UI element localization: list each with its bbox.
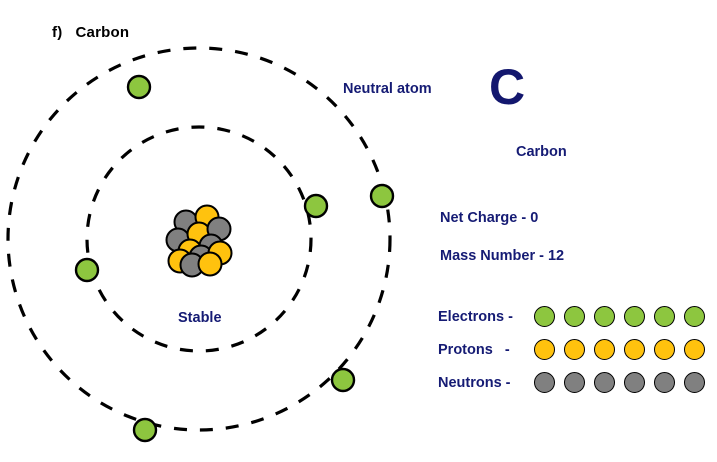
- neutron-dot: [534, 372, 555, 393]
- electron-dot: [564, 306, 585, 327]
- neutron-dot: [624, 372, 645, 393]
- electron: [134, 419, 156, 441]
- proton-dot: [564, 339, 585, 360]
- proton-dot: [594, 339, 615, 360]
- electron-dot: [534, 306, 555, 327]
- legend-row: Protons -: [438, 333, 713, 366]
- neutral-atom-label: Neutral atom: [343, 81, 432, 97]
- neutron-dot: [654, 372, 675, 393]
- neutron-dot: [564, 372, 585, 393]
- legend-dots: [534, 372, 705, 393]
- legend-label: Protons -: [438, 342, 534, 358]
- nucleus-proton: [199, 253, 222, 276]
- particle-legend: Electrons -Protons -Neutrons -: [438, 300, 713, 399]
- legend-label: Electrons -: [438, 309, 534, 325]
- proton-dot: [684, 339, 705, 360]
- electron: [332, 369, 354, 391]
- legend-row: Neutrons -: [438, 366, 713, 399]
- mass-number-label: Mass Number - 12: [440, 248, 564, 264]
- stable-label: Stable: [178, 310, 222, 326]
- net-charge-label: Net Charge - 0: [440, 210, 538, 226]
- electron-group: [76, 76, 393, 441]
- proton-dot: [624, 339, 645, 360]
- electron-dot: [594, 306, 615, 327]
- legend-dots: [534, 306, 705, 327]
- legend-dots: [534, 339, 705, 360]
- element-symbol: C: [489, 62, 525, 112]
- element-name-label: Carbon: [516, 144, 567, 160]
- electron: [76, 259, 98, 281]
- electron: [128, 76, 150, 98]
- atom-diagram-canvas: f) Carbon Neutral atom Stable C Carbon N…: [0, 0, 717, 462]
- nucleus-cluster: [167, 206, 232, 277]
- legend-row: Electrons -: [438, 300, 713, 333]
- proton-dot: [654, 339, 675, 360]
- legend-label: Neutrons -: [438, 375, 534, 391]
- electron-dot: [684, 306, 705, 327]
- electron: [371, 185, 393, 207]
- electron: [305, 195, 327, 217]
- proton-dot: [534, 339, 555, 360]
- neutron-dot: [594, 372, 615, 393]
- electron-dot: [654, 306, 675, 327]
- neutron-dot: [684, 372, 705, 393]
- electron-dot: [624, 306, 645, 327]
